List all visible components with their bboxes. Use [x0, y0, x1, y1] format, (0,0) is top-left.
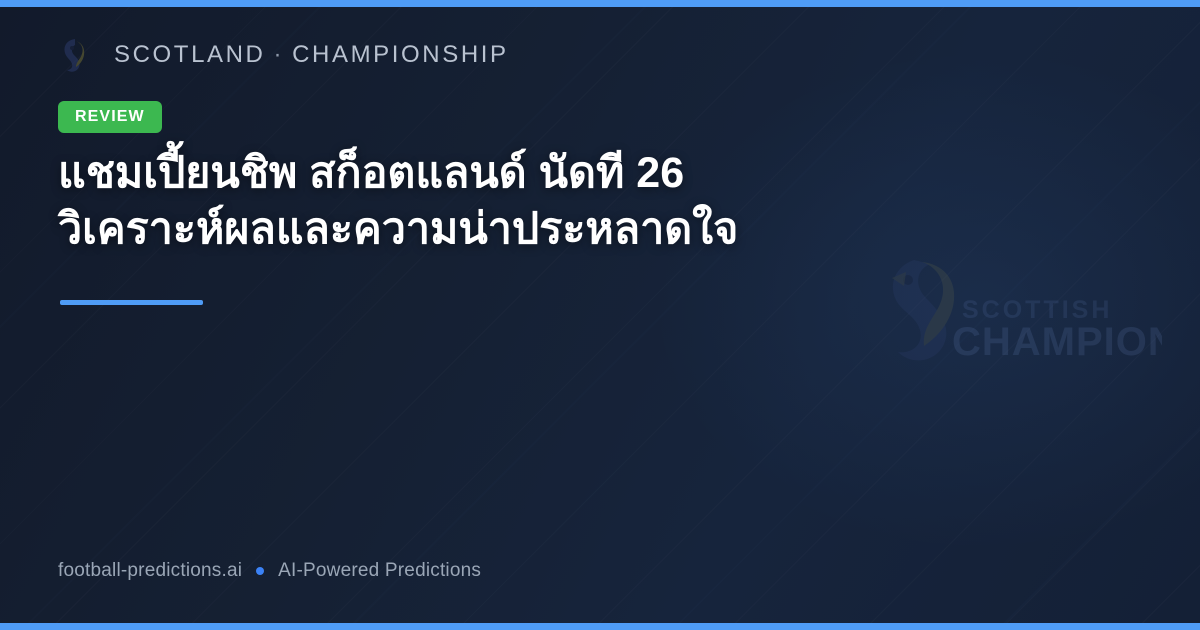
footer-tagline: AI-Powered Predictions — [278, 560, 481, 582]
scottish-championship-logo: SCOTTISH CHAMPIONSHIP — [878, 252, 1162, 379]
league-country: SCOTLAND — [114, 41, 266, 68]
league-breadcrumb: SCOTLAND·CHAMPIONSHIP — [114, 41, 509, 69]
page-title-line-2: วิเคราะห์ผลและความน่าประหลาดใจ — [58, 202, 848, 258]
bottom-accent-bar — [0, 623, 1200, 630]
svg-text:CHAMPIONSHIP: CHAMPIONSHIP — [952, 320, 1162, 364]
league-competition: CHAMPIONSHIP — [292, 41, 509, 68]
page-title-line-1: แชมเปี้ยนชิพ สก็อตแลนด์ นัดที 26 — [58, 146, 848, 202]
footer: football-predictions.ai AI-Powered Predi… — [58, 560, 481, 582]
dot-separator-icon — [256, 567, 264, 575]
page-title: แชมเปี้ยนชิพ สก็อตแลนด์ นัดที 26 วิเคราะ… — [58, 146, 848, 258]
scottish-lion-logo-icon — [58, 36, 92, 74]
top-accent-bar — [0, 0, 1200, 7]
title-accent-rule — [60, 300, 203, 305]
share-card: SCOTLAND·CHAMPIONSHIP REVIEW แชมเปี้ยนชิ… — [0, 0, 1200, 630]
footer-site-name: football-predictions.ai — [58, 560, 242, 582]
breadcrumb-separator: · — [274, 41, 285, 68]
header-row: SCOTLAND·CHAMPIONSHIP — [58, 36, 509, 74]
status-badge: REVIEW — [58, 101, 162, 133]
